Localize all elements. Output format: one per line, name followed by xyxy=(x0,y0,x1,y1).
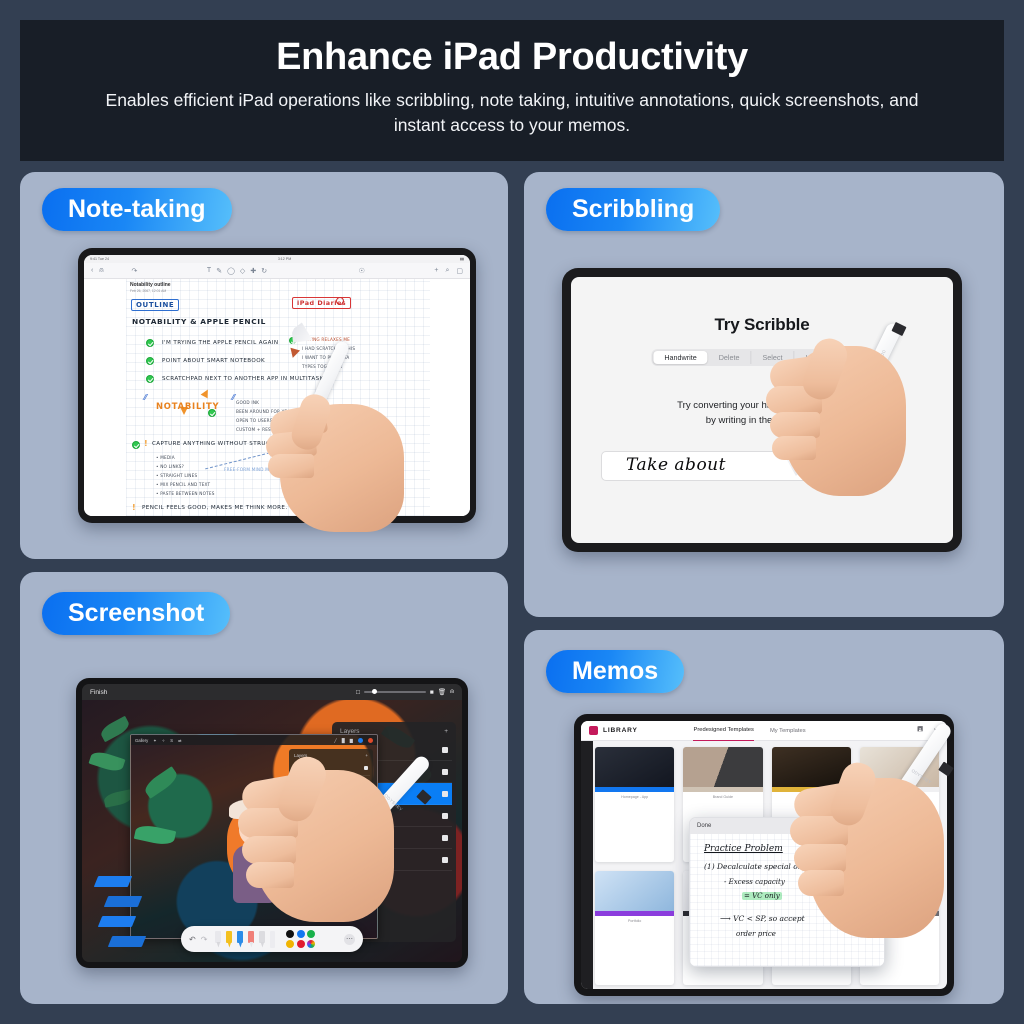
blue-arrow xyxy=(104,896,142,907)
inner-smudge-icon: ✧ xyxy=(162,738,166,743)
hand-holding-stylus: ODYSSEY xyxy=(252,330,482,559)
note-bullet: • MEDIA xyxy=(156,455,175,460)
template-card[interactable]: Homepage - App xyxy=(595,747,674,862)
blue-arrow xyxy=(108,936,146,947)
page-margin-left xyxy=(84,279,126,516)
blue-arrow xyxy=(98,916,136,927)
microphone-icon[interactable]: ☉ xyxy=(359,267,365,275)
checkmark-icon xyxy=(146,375,154,383)
stylus-band xyxy=(938,761,954,776)
markup-top-toolbar[interactable]: Finish □ ■ 🗑 ⍝ xyxy=(82,684,462,700)
ring-finger xyxy=(242,836,296,864)
share-icon[interactable]: ⍝ xyxy=(99,267,103,275)
blue-arrow xyxy=(94,876,132,887)
page-square-icon: □ xyxy=(356,689,360,696)
memo-line-highlighted: = VC only xyxy=(742,892,782,900)
undo-icon[interactable]: ↶ xyxy=(189,935,196,944)
note-bullet: • PASTE BETWEEN NOTES xyxy=(156,491,215,496)
inner-gallery-label: Gallery xyxy=(135,738,148,743)
inner-select-icon: S xyxy=(170,738,173,743)
leaf-shape xyxy=(89,749,126,774)
infographic-page: Enhance iPad Productivity Enables effici… xyxy=(0,0,1024,1024)
header-banner: Enhance iPad Productivity Enables effici… xyxy=(20,20,1004,161)
text-tool-icon[interactable]: T xyxy=(207,267,211,274)
status-bar-right: ▮▮ xyxy=(460,257,464,261)
stylus-band xyxy=(416,789,432,804)
exclamation-mark: ! xyxy=(144,439,148,448)
page-end-icon: ■ xyxy=(430,689,434,696)
note-bullet: • MIX PENCIL AND TEXT xyxy=(156,482,210,487)
pen-tool-icon[interactable] xyxy=(215,931,221,948)
badge-memos: Memos xyxy=(546,650,684,693)
template-card[interactable]: Portfolio xyxy=(595,871,674,986)
blue-tick-mark: ⁄⁄ xyxy=(232,393,235,402)
little-finger xyxy=(772,436,816,460)
badge-note-taking: Note-taking xyxy=(42,188,232,231)
library-icon[interactable]: ▢ xyxy=(456,267,463,275)
handwriting-input-value: Take about xyxy=(626,455,726,475)
app-logo-icon xyxy=(589,726,598,735)
memo-line: Practice Problem xyxy=(704,844,783,854)
ring-finger xyxy=(794,844,846,872)
finish-button[interactable]: Finish xyxy=(90,689,107,696)
exclamation-mark: ! xyxy=(132,503,136,512)
slider-track[interactable] xyxy=(364,691,426,693)
inner-adjust-icon: ✦ xyxy=(153,738,157,743)
checked-item: POINT ABOUT SMART NOTEBOOK xyxy=(162,358,265,364)
hand-holding-stylus: ODYSSEY xyxy=(786,726,1004,1004)
template-caption: Portfolio xyxy=(595,916,674,926)
status-bar-left: 9:41 Tue 24 xyxy=(90,257,109,261)
ipad-status-bar: 9:41 Tue 24 3:12 PM ▮▮ xyxy=(84,255,470,263)
template-thumbnail xyxy=(683,747,762,787)
badge-scribbling: Scribbling xyxy=(546,188,720,231)
leaf-shape xyxy=(98,716,131,742)
leaf-shape xyxy=(142,766,180,799)
note-bullet: • NO LINKS? xyxy=(156,464,184,469)
ring-finger xyxy=(770,412,820,438)
hand-holding-stylus: ODYSSEY xyxy=(760,322,1004,592)
app-sidebar[interactable] xyxy=(581,741,593,989)
card-screenshot: Screenshot Finish □ ■ 🗑 ⍝ xyxy=(20,572,508,1004)
blue-tick-mark: ⁄⁄ xyxy=(144,393,147,402)
memo-line: - Excess capacity xyxy=(724,878,785,886)
hand-holding-stylus: ODYSSEY xyxy=(236,730,492,1002)
card-memos: Memos LIBRARY Predesigned Templates My T… xyxy=(524,630,1004,1004)
handwriting-outline-heading: OUTLINE xyxy=(131,299,179,311)
back-icon[interactable]: ‹ xyxy=(91,267,93,274)
segment-delete[interactable]: Delete xyxy=(708,351,752,364)
little-finger xyxy=(246,862,294,888)
leaf-shape xyxy=(103,789,133,808)
checkmark-icon xyxy=(146,339,154,347)
notability-toolbar[interactable]: ‹ ⍝ ↷ T ✎ ◯ ◇ ✚ ↻ ☉ + ⌕ ▢ xyxy=(84,263,470,279)
red-circle-annotation xyxy=(336,297,344,305)
page-subtitle: Enables efficient iPad operations like s… xyxy=(82,88,942,139)
library-label: LIBRARY xyxy=(603,727,638,734)
lasso-tool-icon[interactable]: ✚ xyxy=(250,267,256,275)
little-finger xyxy=(798,870,844,896)
share-icon[interactable]: ⍝ xyxy=(450,688,454,696)
document-date: Feb 26, 2067, 12:01 AM xyxy=(130,289,166,293)
toolbar-right-group[interactable]: + ⌕ ▢ xyxy=(434,267,463,275)
template-caption: Brand Guide xyxy=(683,792,762,802)
checkmark-icon xyxy=(146,357,154,365)
redo-icon[interactable]: ↷ xyxy=(201,935,208,944)
search-icon[interactable]: ⌕ xyxy=(445,267,449,275)
leaf-shape xyxy=(134,823,176,847)
inner-transform-icon: ⇄ xyxy=(178,738,182,743)
done-button[interactable]: Done xyxy=(697,823,711,829)
card-note-taking: Note-taking 9:41 Tue 24 3:12 PM ▮▮ ‹ ⍝ ↷… xyxy=(20,172,508,559)
trash-icon[interactable]: 🗑 xyxy=(438,688,446,696)
pen-tool-icon[interactable]: ✎ xyxy=(216,267,222,275)
badge-screenshot: Screenshot xyxy=(42,592,230,635)
note-bullet: • STRAIGHT LINES xyxy=(156,473,197,478)
reset-tool-icon[interactable]: ↻ xyxy=(261,267,267,275)
highlighter-tool-icon[interactable]: ◯ xyxy=(227,267,235,275)
blue-arrow-graphics xyxy=(96,872,180,958)
template-thumbnail xyxy=(595,747,674,787)
pen-tool-group[interactable]: T ✎ ◯ ◇ ✚ ↻ xyxy=(207,267,267,275)
section-title: NOTABILITY xyxy=(156,401,219,411)
template-thumbnail xyxy=(595,871,674,911)
page-slider[interactable]: □ ■ 🗑 ⍝ xyxy=(356,688,454,696)
highlighter-tool-icon[interactable] xyxy=(226,931,232,948)
tab-predesigned-templates[interactable]: Predesigned Templates xyxy=(693,721,753,741)
document-title: Notability outline xyxy=(130,282,171,288)
segment-handwrite[interactable]: Handwrite xyxy=(653,351,707,364)
status-bar-time: 3:12 PM xyxy=(278,257,291,261)
template-caption: Homepage - App xyxy=(595,792,674,802)
ring-finger xyxy=(268,454,314,478)
undo-icon[interactable]: ↷ xyxy=(132,267,138,275)
handwriting-main-heading: NOTABILITY & APPLE PENCIL xyxy=(132,317,266,326)
checkmark-icon xyxy=(132,441,140,449)
eraser-tool-icon[interactable]: ◇ xyxy=(240,267,245,275)
page-title: Enhance iPad Productivity xyxy=(276,37,748,79)
card-scribbling: Scribbling Try Scribble Handwrite Delete… xyxy=(524,172,1004,617)
add-page-icon[interactable]: + xyxy=(434,267,438,275)
slider-knob[interactable] xyxy=(372,689,377,694)
memo-line: order price xyxy=(736,930,776,938)
